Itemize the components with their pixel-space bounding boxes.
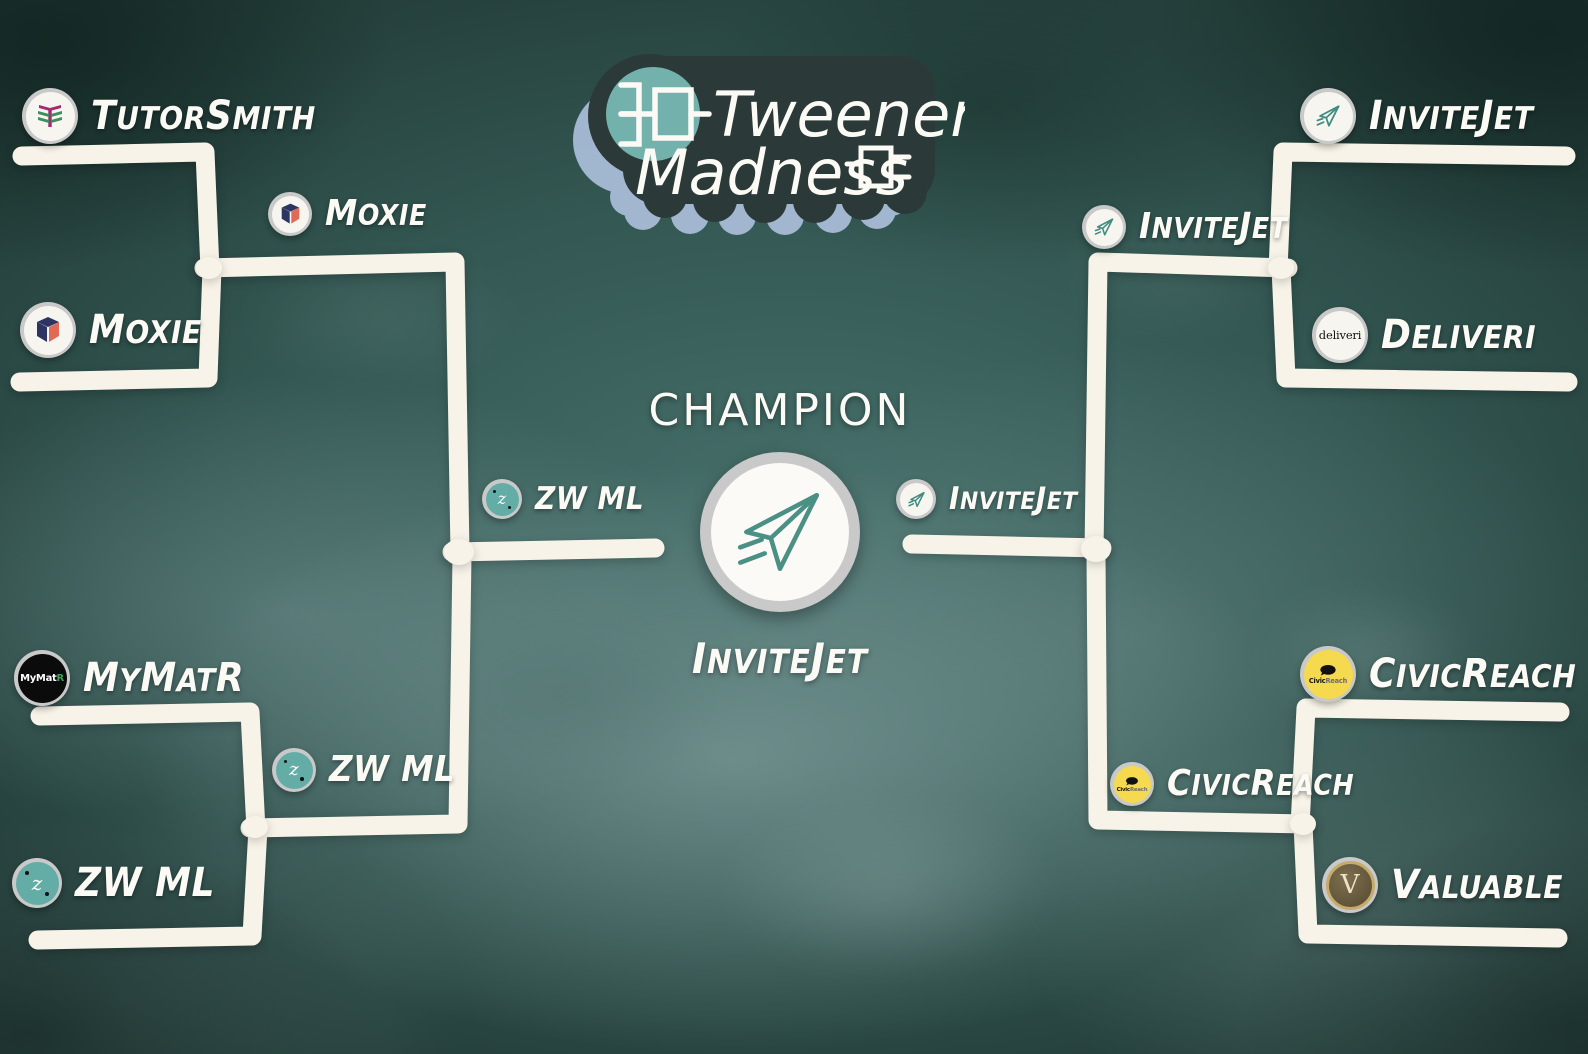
speech-bubble-icon [1319, 664, 1337, 676]
champion-block: CHAMPION INVITEJET [615, 385, 945, 683]
avatar: deliveri [1312, 307, 1368, 363]
avatar: z [482, 479, 522, 519]
avatar [20, 302, 76, 358]
cube-box-icon [280, 202, 301, 226]
entry-label: DELIVERI [1381, 315, 1536, 355]
paper-plane-icon [1313, 101, 1343, 131]
entry-label: TUTORSMITH [91, 96, 316, 136]
zw-ml-icon: z [498, 491, 506, 507]
avatar [22, 88, 78, 144]
logo-artwork: Tweener Madness [565, 28, 965, 238]
entry-label: INVITEJET [1369, 96, 1533, 136]
line-left-q1-top [22, 152, 210, 270]
line-left-q2-top [40, 712, 256, 830]
civicreach-icon-text: CivicReach [1117, 787, 1148, 793]
avatar: CivicReach [1300, 646, 1356, 702]
entry-label: MYMATR [83, 658, 244, 698]
entry-label: INVITEJET [949, 484, 1078, 515]
avatar: z [272, 748, 316, 792]
entry-label: CIVICREACH [1167, 766, 1354, 802]
avatar: MyMatR [14, 650, 70, 706]
entry-label: ZW ML [329, 752, 455, 788]
avatar [1300, 88, 1356, 144]
entry-label: MOXIE [89, 310, 202, 350]
avatar: z [12, 858, 62, 908]
champion-avatar[interactable] [700, 452, 860, 612]
entry-label: MOXIE [325, 196, 427, 232]
line-right-r2-top-stem [1094, 262, 1288, 552]
bracket-entry-moxie-r2[interactable]: MOXIE [268, 192, 427, 236]
mymatr-icon-text: MyMatR [20, 673, 64, 684]
speech-bubble-icon [1125, 776, 1139, 786]
junction-left-semifinal [444, 539, 474, 565]
avatar [1082, 205, 1126, 249]
avatar [268, 192, 312, 236]
champion-label: CHAMPION [615, 385, 945, 436]
bracket-entry-tutorsmith[interactable]: TUTORSMITH [22, 88, 316, 144]
junction-right-semifinal [1081, 536, 1111, 562]
paper-plane-icon [1092, 215, 1116, 239]
bracket-entry-civicreach-r1[interactable]: CivicReach CIVICREACH [1300, 646, 1576, 702]
bracket-entry-mymatr[interactable]: MyMatR MYMATR [14, 650, 244, 706]
bracket-entry-invitejet-r1[interactable]: INVITEJET [1300, 88, 1533, 144]
paper-plane-icon [728, 480, 832, 584]
junction-right-q2 [1290, 813, 1316, 835]
junction-left-q1 [196, 257, 222, 279]
junction-left-q2 [242, 816, 268, 838]
bracket-entry-civicreach-r2[interactable]: CivicReach CIVICREACH [1110, 762, 1354, 806]
junction-right-q1 [1268, 257, 1294, 279]
avatar: V [1322, 857, 1378, 913]
entry-label: VALUABLE [1391, 865, 1563, 905]
bracket-entry-valuable[interactable]: V VALUABLE [1322, 857, 1563, 913]
cube-box-icon [35, 315, 61, 345]
line-right-q1-top [1278, 152, 1566, 270]
open-book-icon [35, 103, 65, 129]
valuable-v-icon: V [1341, 872, 1360, 898]
civicreach-icon-text: CivicReach [1309, 677, 1347, 685]
entry-label: INVITEJET [1139, 209, 1288, 245]
avatar: CivicReach [1110, 762, 1154, 806]
bracket-entry-zwml-r1[interactable]: z ZW ML [12, 858, 215, 908]
line-left-r2-top-stem [204, 262, 460, 552]
entry-label: CIVICREACH [1369, 654, 1576, 694]
deliveri-logo-icon: deliveri [1319, 328, 1361, 342]
bracket-entry-invitejet-r2[interactable]: INVITEJET [1082, 205, 1288, 249]
zw-ml-icon: z [32, 873, 43, 893]
app-logo: Tweener Madness [565, 28, 965, 238]
champion-name: INVITEJET [615, 634, 945, 683]
bracket-entry-moxie-r1[interactable]: MOXIE [20, 302, 202, 358]
zw-ml-icon: z [289, 761, 298, 779]
entry-label: ZW ML [75, 863, 215, 903]
bracket-entry-zwml-r2[interactable]: z ZW ML [272, 748, 455, 792]
bracket-entry-deliveri[interactable]: deliveri DELIVERI [1312, 307, 1536, 363]
